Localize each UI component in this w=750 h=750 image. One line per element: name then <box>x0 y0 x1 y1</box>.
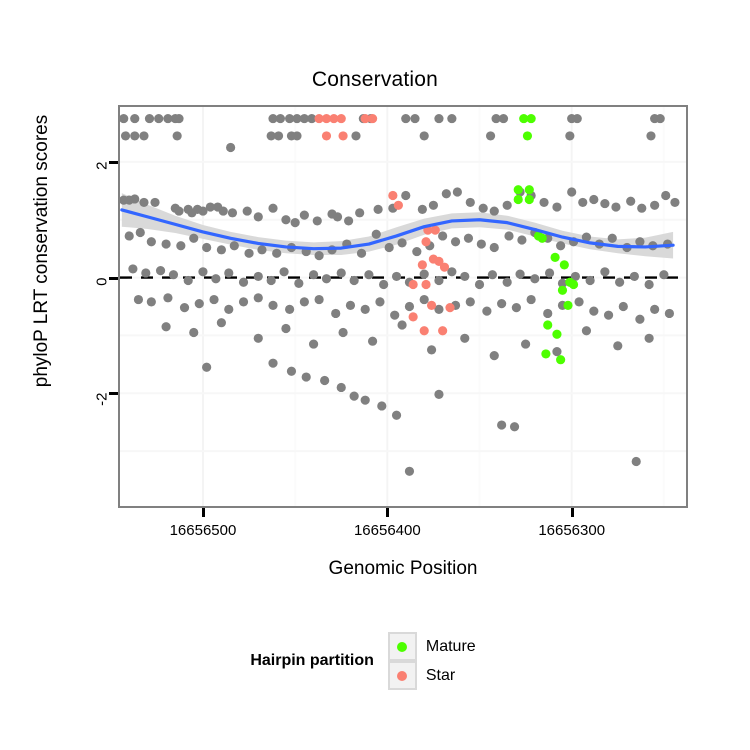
legend-key-swatch <box>388 632 417 661</box>
plot-panel <box>118 105 688 508</box>
x-tick-label: 16656400 <box>317 522 457 539</box>
x-tick-mark <box>571 508 574 517</box>
scatter-plot-canvas <box>120 107 686 506</box>
legend-item-star[interactable]: Star <box>388 661 492 690</box>
legend-dot-icon <box>397 671 407 681</box>
y-tick-label: -2 <box>94 393 111 433</box>
y-tick-label: 0 <box>94 277 111 317</box>
gridlines <box>120 107 686 506</box>
conservation-plot-figure: Conservation phyloP LRT conservation sco… <box>0 0 750 750</box>
legend-item-mature[interactable]: Mature <box>388 632 492 661</box>
x-tick-mark <box>386 508 389 517</box>
x-tick-label: 16656500 <box>133 522 273 539</box>
legend-dot-icon <box>397 642 407 652</box>
legend-label: Star <box>426 667 455 685</box>
legend-items: MatureStar <box>388 632 500 690</box>
x-tick-mark <box>202 508 205 517</box>
legend-key-swatch <box>388 661 417 690</box>
legend-label: Mature <box>426 638 476 656</box>
y-axis-title: phyloP LRT conservation scores <box>31 41 53 461</box>
y-tick-label: 2 <box>94 161 111 201</box>
x-axis-title: Genomic Position <box>118 558 688 580</box>
legend-title: Hairpin partition <box>250 652 374 670</box>
x-tick-label: 16656300 <box>502 522 642 539</box>
page-title: Conservation <box>0 68 750 92</box>
legend: Hairpin partition MatureStar <box>0 644 750 678</box>
